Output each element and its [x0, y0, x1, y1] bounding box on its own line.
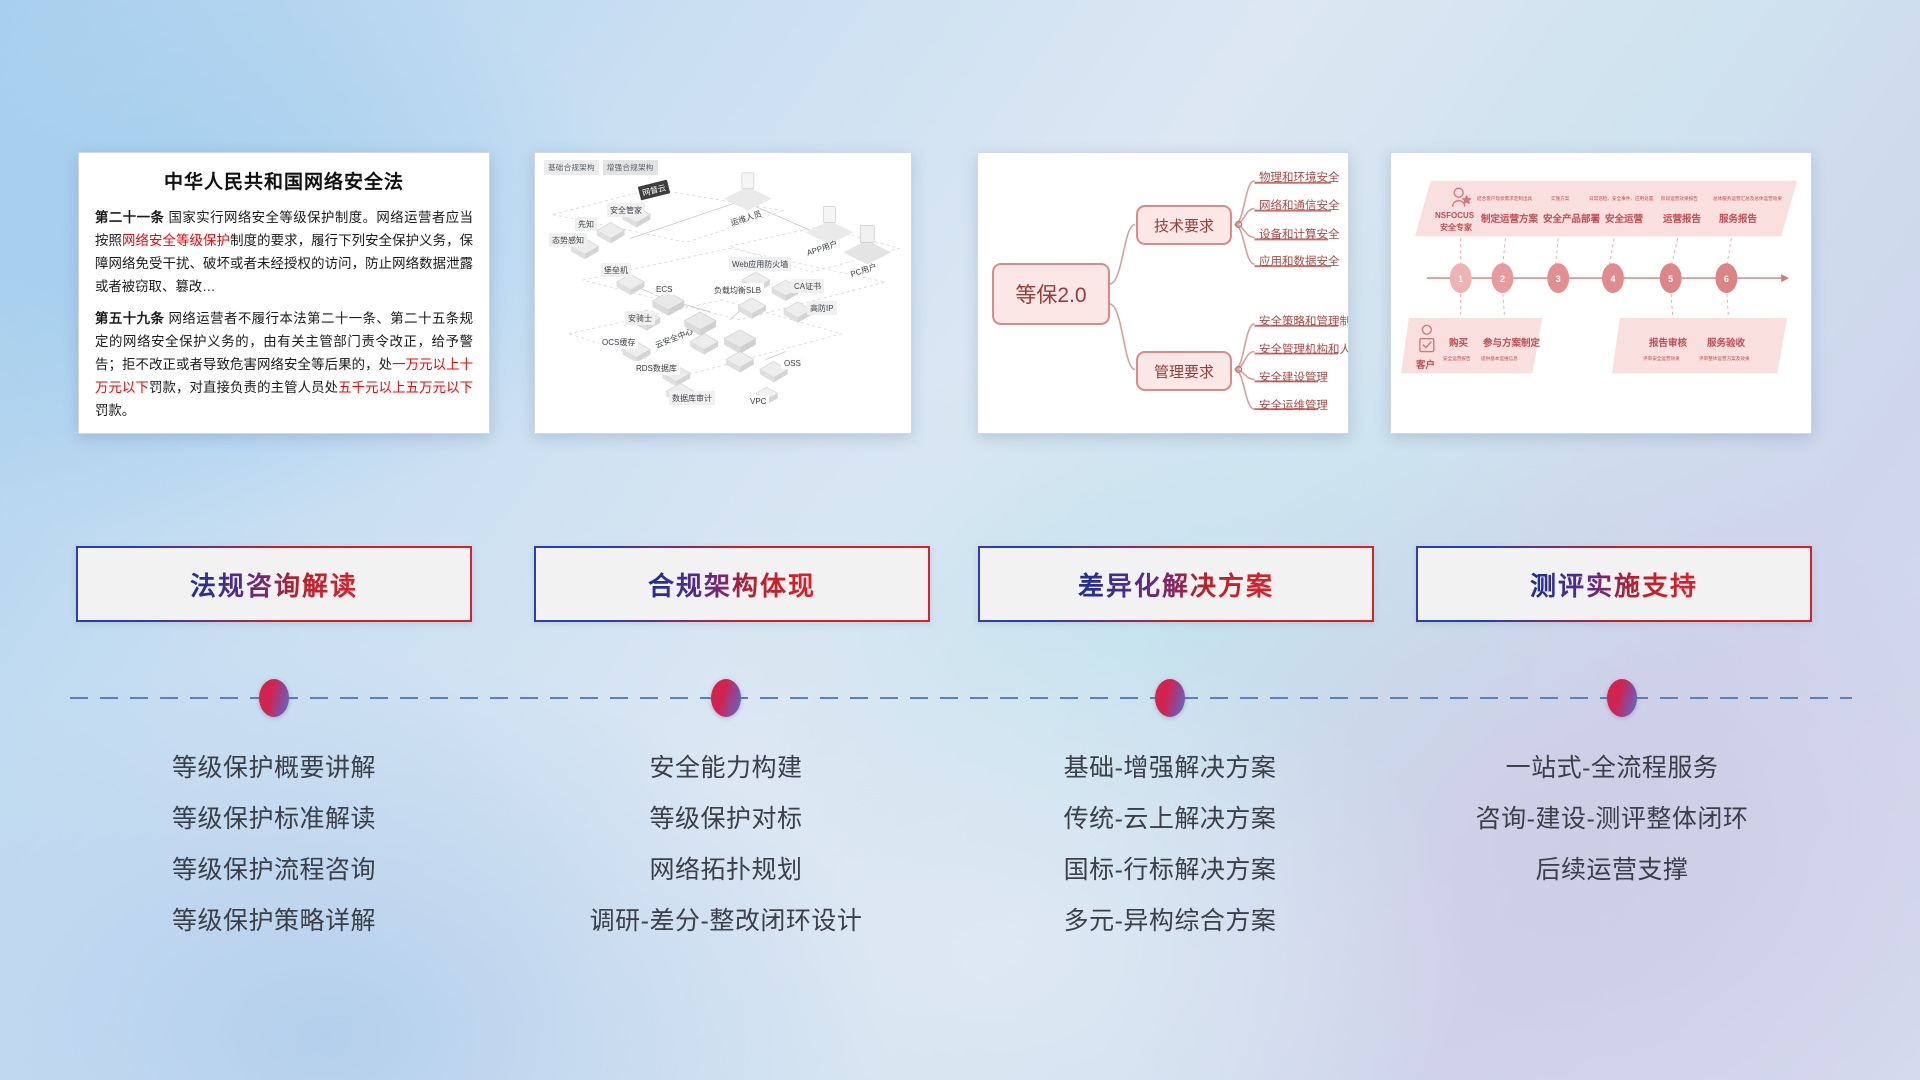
- flow-expert-sub-5: 总体服务运营汇总及总体运营效果: [1713, 196, 1782, 202]
- flow-expert-main-5: 服务报告: [1719, 211, 1757, 225]
- arch-node-anti-ddos-ip: 高防IP: [807, 301, 837, 315]
- timeline-dot-4: [1607, 679, 1637, 717]
- card-cybersecurity-law: 中华人民共和国网络安全法 第二十一条 国家实行网络安全等级保护制度。网络运营者应…: [78, 152, 490, 434]
- flow-expert-sub-1: 结合客户现状需求定制出具: [1477, 196, 1532, 202]
- mindmap-leaf-app-data: 应用和数据安全: [1259, 253, 1340, 269]
- flow-customer-main-4: 服务验收: [1707, 335, 1745, 349]
- architecture-diagram: 基础合规架构 增强合规架构: [535, 153, 911, 433]
- tab-basic-compliance[interactable]: 基础合规架构: [544, 160, 599, 175]
- list-item: 安全能力构建: [516, 743, 936, 794]
- law-article-21: 第二十一条 国家实行网络安全等级保护制度。网络运营者应当按照网络安全等级保护制度…: [95, 206, 473, 298]
- mindmap-root-node: 等保2.0: [992, 263, 1110, 325]
- list-item: 等级保护流程咨询: [64, 845, 484, 896]
- flow-expert-main-4: 运营报告: [1663, 211, 1701, 225]
- service-flow-diagram: 1 2 3 4 5 6: [1391, 153, 1811, 433]
- mindmap-leaf-physical-env: 物理和环境安全: [1259, 169, 1340, 185]
- flow-role-security-expert: 安全专家: [1440, 222, 1472, 233]
- mindmap-branch-technical: 技术要求: [1136, 205, 1232, 245]
- service-flow-canvas: 1 2 3 4 5 6: [1391, 153, 1811, 433]
- card-cloud-architecture: 基础合规架构 增强合规架构: [534, 152, 912, 434]
- arch-node-ocs-cache: OCS缓存: [599, 335, 638, 349]
- list-item: 咨询-建设-测评整体闭环: [1402, 794, 1822, 845]
- timeline-dashed-line: [70, 697, 1852, 699]
- flow-expert-main-3: 安全运营: [1605, 211, 1643, 225]
- arch-node-oss: OSS: [781, 357, 804, 369]
- list-item: 网络拓扑规划: [516, 845, 936, 896]
- arch-node-xianzhi: 先知: [575, 217, 597, 231]
- flow-expert-sub-2: 实施方案: [1551, 196, 1569, 202]
- section-title-2: 合规架构体现: [648, 566, 816, 603]
- arch-node-slb: 负载均衡SLB: [711, 283, 764, 297]
- flow-role-nsfocus: NSFOCUS: [1435, 211, 1474, 220]
- law-article-21-highlight: 网络安全等级保护: [122, 233, 230, 248]
- law-article-59: 第五十九条 网络运营者不履行本法第二十一条、第二十五条规定的网络安全保护义务的，…: [95, 307, 473, 422]
- law-article-59-highlight-b: 五千元以上五万元以下: [338, 380, 473, 395]
- list-item: 多元-异构综合方案: [960, 896, 1380, 947]
- list-item: 等级保护概要讲解: [64, 743, 484, 794]
- arch-node-ca-certificate: CA证书: [791, 279, 824, 293]
- law-article-59-text-b: 罚款，对直接负责的主管人员处: [149, 380, 338, 395]
- arch-node-waf: Web应用防火墙: [729, 257, 791, 271]
- mindmap-leaf-network-comm: 网络和通信安全: [1259, 197, 1340, 213]
- law-article-59-text-c: 罚款。: [95, 403, 135, 418]
- mindmap-diagram: 等保2.0 技术要求 管理要求 物理和环境安全 网络和通信安全 设备和计算安全 …: [978, 153, 1348, 433]
- section-title-box-1[interactable]: 法规咨询解读: [76, 546, 472, 622]
- arch-node-db-audit: 数据库审计: [669, 391, 715, 405]
- flow-role-customer: 客户: [1416, 357, 1435, 371]
- timeline-dot-2: [711, 679, 741, 717]
- flow-expert-sub-4: 阶段运营效果报告: [1661, 196, 1698, 202]
- law-title: 中华人民共和国网络安全法: [95, 167, 473, 194]
- arch-node-rds-database: RDS数据库: [633, 361, 680, 375]
- list-item: 基础-增强解决方案: [960, 743, 1380, 794]
- mindmap-leaf-org-personnel: 安全管理机构和人员: [1259, 341, 1349, 357]
- arch-node-security-steward: 安全管家: [607, 203, 645, 217]
- section-list-1: 等级保护概要讲解 等级保护标准解读 等级保护流程咨询 等级保护策略详解: [64, 743, 484, 947]
- svg-text:6: 6: [1724, 274, 1729, 284]
- flow-customer-main-3: 报告审核: [1649, 335, 1687, 349]
- arch-node-aqishi: 安骑士: [625, 311, 655, 325]
- list-item: 一站式-全流程服务: [1402, 743, 1822, 794]
- svg-text:2: 2: [1500, 274, 1505, 284]
- section-list-3: 基础-增强解决方案 传统-云上解决方案 国标-行标解决方案 多元-异构综合方案: [960, 743, 1380, 947]
- section-title-box-4[interactable]: 测评实施支持: [1416, 546, 1812, 622]
- list-item: 后续运营支撑: [1402, 845, 1822, 896]
- arch-node-situation-awareness: 态势感知: [549, 233, 587, 247]
- flow-customer-sub-1: 安全运营报告: [1443, 356, 1471, 362]
- svg-text:4: 4: [1610, 274, 1615, 284]
- list-item: 调研-差分-整改闭环设计: [516, 896, 936, 947]
- flow-customer-main-2: 参与方案制定: [1483, 335, 1540, 349]
- mindmap-leaf-policy-system: 安全策略和管理制度: [1259, 313, 1349, 329]
- law-content: 中华人民共和国网络安全法 第二十一条 国家实行网络安全等级保护制度。网络运营者应…: [79, 153, 489, 434]
- list-item: 国标-行标解决方案: [960, 845, 1380, 896]
- timeline-dot-1: [259, 679, 289, 717]
- law-article-21-label: 第二十一条: [95, 210, 164, 225]
- card-mindmap-djcp20: 等保2.0 技术要求 管理要求 物理和环境安全 网络和通信安全 设备和计算安全 …: [977, 152, 1349, 434]
- flow-customer-main-1: 购买: [1449, 335, 1468, 349]
- arch-node-vpc: VPC: [747, 395, 769, 407]
- section-list-2: 安全能力构建 等级保护对标 网络拓扑规划 调研-差分-整改闭环设计: [516, 743, 936, 947]
- flow-expert-main-1: 制定运营方案: [1481, 211, 1538, 225]
- timeline-dot-3: [1155, 679, 1185, 717]
- arch-node-bastion-host: 堡垒机: [601, 263, 631, 277]
- law-article-59-label: 第五十九条: [95, 311, 164, 326]
- list-item: 传统-云上解决方案: [960, 794, 1380, 845]
- section-title-4: 测评实施支持: [1530, 566, 1698, 603]
- list-item: 等级保护对标: [516, 794, 936, 845]
- svg-text:3: 3: [1556, 274, 1561, 284]
- architecture-tabs: 基础合规架构 增强合规架构: [544, 160, 658, 175]
- list-item: 等级保护标准解读: [64, 794, 484, 845]
- mindmap-leaf-device-compute: 设备和计算安全: [1259, 226, 1340, 242]
- flow-customer-sub-3: 评审安全运营效果: [1643, 356, 1680, 362]
- flow-customer-sub-2: 提供基本运维信息: [1481, 356, 1518, 362]
- svg-text:1: 1: [1458, 274, 1463, 284]
- mindmap-leaf-ops-mgmt: 安全运维管理: [1259, 397, 1328, 413]
- section-title-3: 差异化解决方案: [1078, 566, 1274, 603]
- card-service-flow: 1 2 3 4 5 6: [1390, 152, 1812, 434]
- tab-enhanced-compliance[interactable]: 增强合规架构: [603, 160, 658, 175]
- flow-customer-sub-4: 评审整体运营方案及效果: [1699, 356, 1750, 362]
- arch-node-ecs: ECS: [653, 283, 675, 295]
- svg-text:5: 5: [1668, 274, 1673, 284]
- mindmap-branch-management: 管理要求: [1136, 351, 1232, 391]
- section-list-4: 一站式-全流程服务 咨询-建设-测评整体闭环 后续运营支撑: [1402, 743, 1822, 896]
- mindmap-leaf-construction-mgmt: 安全建设管理: [1259, 369, 1328, 385]
- list-item: 等级保护策略详解: [64, 896, 484, 947]
- flow-expert-main-2: 安全产品部署: [1543, 211, 1600, 225]
- slide-canvas: 中华人民共和国网络安全法 第二十一条 国家实行网络安全等级保护制度。网络运营者应…: [0, 0, 1920, 1080]
- flow-expert-sub-3: 日常巡检、安全事件、应用处置: [1589, 196, 1653, 202]
- section-title-box-2[interactable]: 合规架构体现: [534, 546, 930, 622]
- section-title-box-3[interactable]: 差异化解决方案: [978, 546, 1374, 622]
- section-title-1: 法规咨询解读: [190, 566, 358, 603]
